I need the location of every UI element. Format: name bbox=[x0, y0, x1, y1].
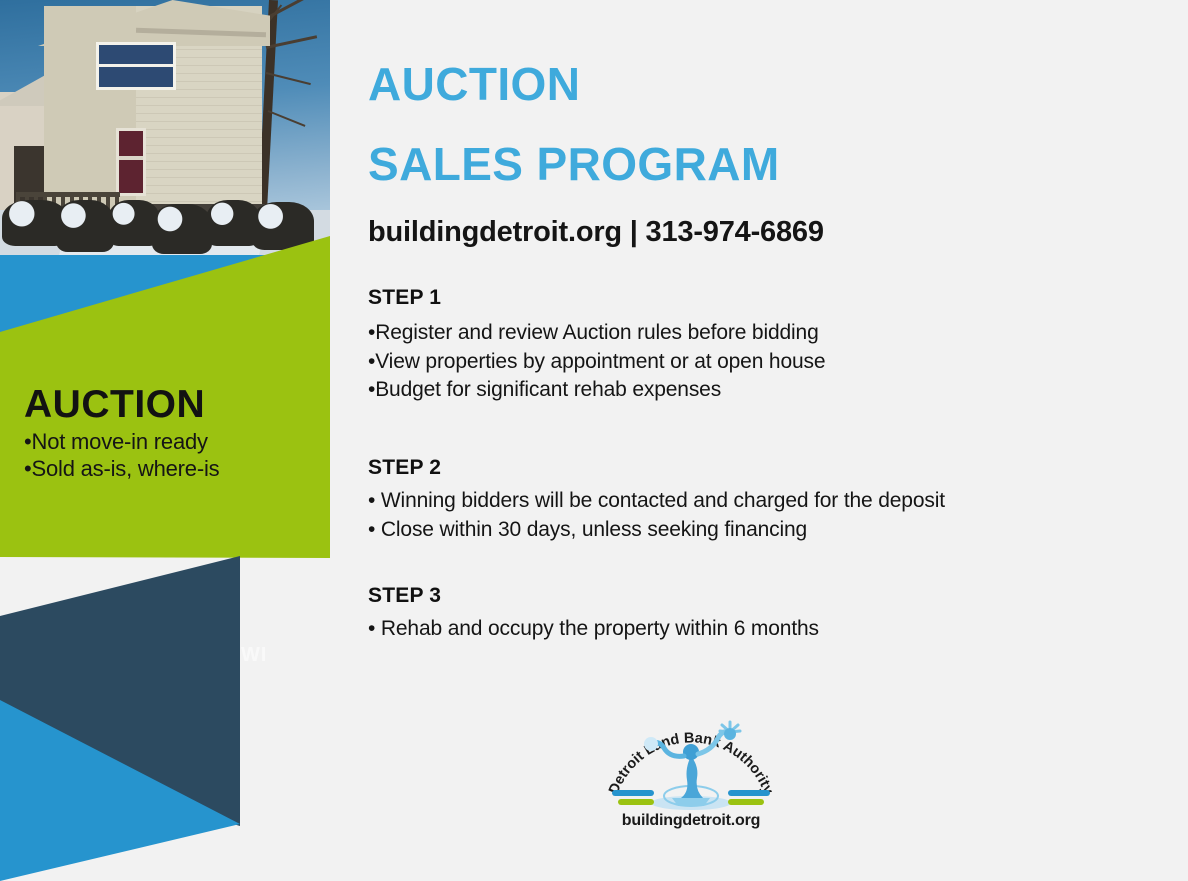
list-item: •View properties by appointment or at op… bbox=[368, 348, 825, 377]
step-1-title: STEP 1 bbox=[368, 286, 825, 310]
list-item: •Not move-in ready bbox=[24, 428, 304, 455]
step-2-list: • Winning bidders will be contacted and … bbox=[368, 487, 945, 544]
step-2-section: STEP 2 • Winning bidders will be contact… bbox=[368, 456, 945, 544]
auction-sales-program-poster: AUCTION •Not move-in ready •Sold as-is, … bbox=[0, 0, 1188, 881]
list-item: •Budget for significant rehab expenses bbox=[368, 376, 825, 405]
faint-watermark-text: WI bbox=[241, 644, 267, 667]
auction-callout-list: •Not move-in ready •Sold as-is, where-is bbox=[24, 428, 304, 482]
list-item: •Sold as-is, where-is bbox=[24, 455, 304, 482]
step-3-list: • Rehab and occupy the property within 6… bbox=[368, 615, 819, 644]
list-item: •Register and review Auction rules befor… bbox=[368, 319, 825, 348]
snowy-shrub bbox=[252, 202, 314, 250]
logo-url-text: buildingdetroit.org bbox=[596, 812, 786, 830]
front-door bbox=[116, 128, 146, 196]
list-item: • Close within 30 days, unless seeking f… bbox=[368, 516, 945, 545]
step-2-title: STEP 2 bbox=[368, 456, 945, 480]
list-item: • Winning bidders will be contacted and … bbox=[368, 487, 945, 516]
left-graphic-column: AUCTION •Not move-in ready •Sold as-is, … bbox=[0, 0, 330, 881]
step-1-list: •Register and review Auction rules befor… bbox=[368, 319, 825, 405]
list-item: • Rehab and occupy the property within 6… bbox=[368, 615, 819, 644]
page-title-line2: SALES PROGRAM bbox=[368, 140, 780, 188]
snowy-shrub bbox=[152, 204, 212, 254]
contact-line: buildingdetroit.org | 313-974-6869 bbox=[368, 216, 824, 249]
logo-graphic: Detroit Land Bank Authority bbox=[596, 704, 786, 816]
detroit-land-bank-authority-logo: Detroit Land Bank Authority bbox=[596, 704, 786, 836]
auction-callout-block: AUCTION •Not move-in ready •Sold as-is, … bbox=[24, 385, 304, 482]
auction-callout-title: AUCTION bbox=[24, 385, 304, 424]
snowy-shrub bbox=[56, 200, 114, 252]
step-1-section: STEP 1 •Register and review Auction rule… bbox=[368, 286, 825, 405]
house-photo bbox=[0, 0, 330, 268]
step-3-title: STEP 3 bbox=[368, 584, 819, 608]
page-title-line1: AUCTION bbox=[368, 60, 580, 108]
upper-window bbox=[96, 42, 176, 90]
step-3-section: STEP 3 • Rehab and occupy the property w… bbox=[368, 584, 819, 644]
